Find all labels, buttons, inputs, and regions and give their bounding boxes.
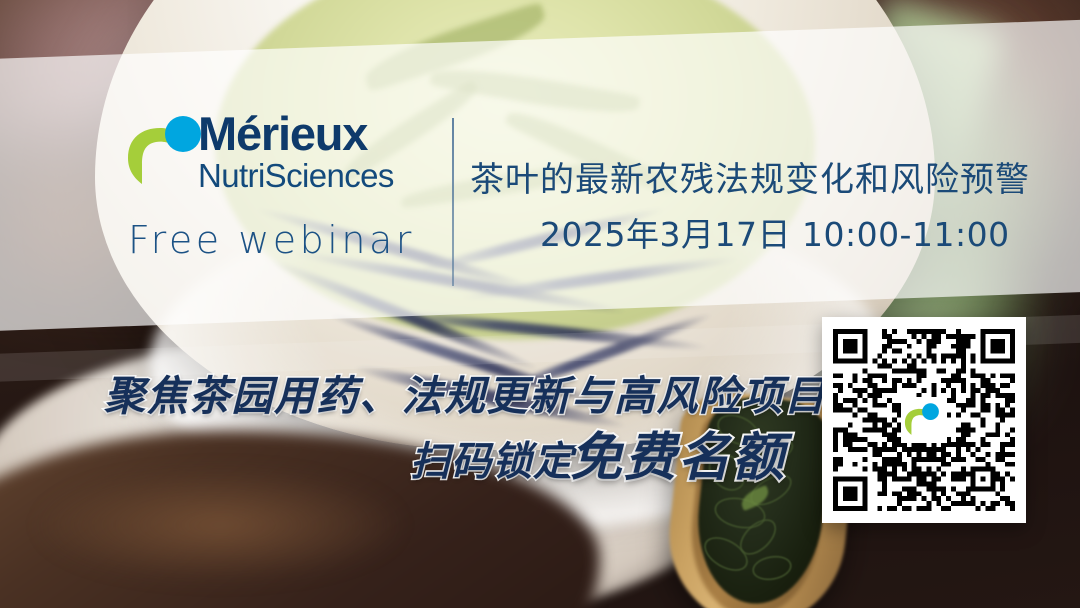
headline-cta-prefix: 扫码锁定: [410, 429, 574, 487]
webinar-title: 茶叶的最新农残法规变化和风险预警: [470, 152, 1030, 201]
merieux-logo-mark-icon: [904, 401, 944, 439]
webinar-poster: Mérieux NutriSciences Free webinar 茶叶的最新…: [0, 0, 1080, 608]
brand-logo: Mérieux NutriSciences: [126, 112, 426, 204]
vertical-divider: [452, 118, 454, 286]
registration-qr-card[interactable]: [822, 317, 1026, 523]
webinar-datetime: 2025年3月17日 10:00-11:00: [540, 208, 1010, 256]
logo-wordmark-primary: Mérieux: [198, 110, 394, 157]
qr-center-logo: [901, 397, 947, 443]
blue-circle-icon: [165, 116, 201, 152]
free-webinar-kicker: Free webinar: [128, 218, 415, 262]
headline-cta-emphasis: 免费名额: [570, 415, 786, 490]
logo-wordmark-secondary: NutriSciences: [198, 159, 394, 192]
tray-highlight: [40, 470, 400, 580]
headline-topics: 聚焦茶园用药、法规更新与高风险项目: [104, 362, 827, 422]
headline-cta: 扫码锁定 免费名额: [410, 415, 786, 490]
